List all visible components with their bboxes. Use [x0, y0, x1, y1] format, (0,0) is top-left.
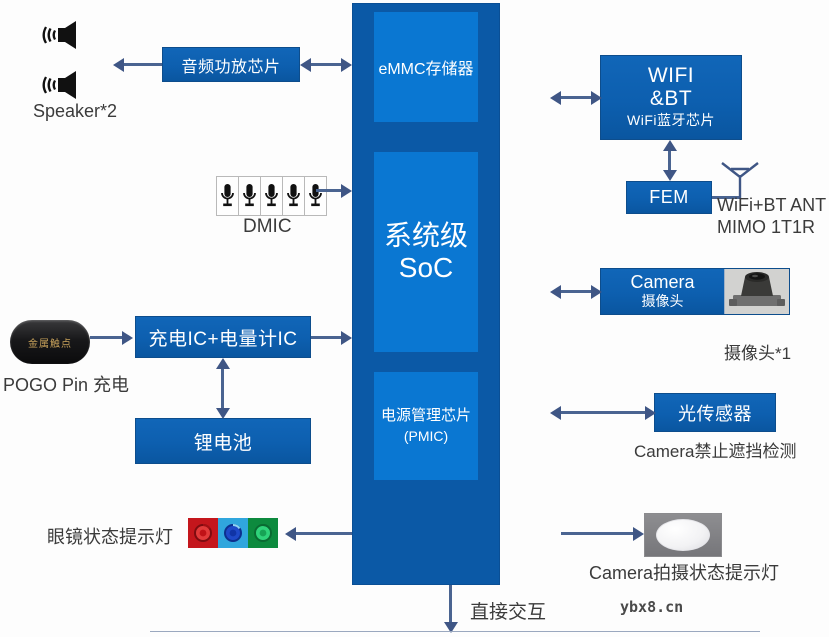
- pogo-pin-caption: POGO Pin 充电: [3, 371, 129, 397]
- camera-caption: 摄像头*1: [724, 339, 791, 364]
- microphone-icon: [260, 176, 283, 216]
- soc-block-core[interactable]: 系统级 SoC: [374, 152, 478, 352]
- arrow-amp-to-soc-head-left: [300, 58, 311, 72]
- led-green-icon: [248, 518, 278, 548]
- arrow-wifi-fem-line: [668, 150, 671, 172]
- microphone-icon: [238, 176, 261, 216]
- arrow-soc-wifi-head-right: [591, 91, 602, 105]
- dmic-icon-group: [216, 176, 326, 216]
- soc-pmic-label-line1: 电源管理芯片: [381, 406, 471, 426]
- arrow-soc-to-led-line: [296, 532, 352, 535]
- status-lamp-icon: [644, 513, 722, 557]
- camera-lamp-caption: Camera拍摄状态提示灯: [589, 559, 779, 585]
- soc-block-emmc[interactable]: eMMC存储器: [374, 12, 478, 122]
- status-lamp-disc: [656, 519, 710, 551]
- dmic-caption: DMIC: [243, 216, 292, 238]
- camera-label-line1: Camera: [630, 273, 694, 292]
- watermark-text: ybx8.cn: [620, 598, 683, 616]
- speaker-icon-top: [42, 20, 88, 50]
- fem-box[interactable]: FEM: [626, 181, 712, 214]
- arrow-wifi-fem-head-up: [663, 140, 677, 151]
- led-cyan-icon: [218, 518, 248, 548]
- arrow-dmic-to-soc-line: [316, 189, 341, 192]
- arrow-soc-lightsensor-line: [561, 411, 645, 414]
- camera-module-photo: [724, 269, 789, 314]
- arrow-amp-to-speaker-head: [113, 58, 124, 72]
- arrow-soc-lamp-head: [633, 527, 644, 541]
- microphone-icon: [304, 176, 327, 216]
- arrow-amp-to-speaker-line: [124, 63, 162, 66]
- antenna-caption-line2: MIMO 1T1R: [717, 217, 815, 238]
- fem-label: FEM: [649, 187, 689, 208]
- led-red-icon: [188, 518, 218, 548]
- antenna-caption-line1: WiFi+BT ANT: [717, 195, 826, 216]
- camera-label-line2: 摄像头: [642, 292, 684, 310]
- arrow-charge-battery-line: [221, 368, 224, 410]
- light-sensor-caption: Camera禁止遮挡检测: [634, 437, 796, 462]
- audio-amplifier-label: 音频功放芯片: [181, 53, 280, 77]
- soc-core-label-line1: 系统级: [384, 220, 468, 252]
- audio-amplifier-box[interactable]: 音频功放芯片: [162, 47, 300, 82]
- battery-label: 锂电池: [194, 428, 253, 455]
- soc-core-label-line2: SoC: [399, 252, 453, 284]
- microphone-icon: [216, 176, 239, 216]
- charge-ic-box[interactable]: 充电IC+电量计IC: [135, 316, 311, 358]
- arrow-dmic-to-soc-head: [341, 184, 352, 198]
- diagram-canvas: eMMC存储器 系统级 SoC 电源管理芯片 (PMIC): [0, 0, 829, 637]
- wifi-bt-label-line3: WiFi蓝牙芯片: [627, 110, 715, 131]
- speaker-icon-bottom: [42, 70, 88, 100]
- soc-pmic-label-line2: (PMIC): [404, 427, 448, 446]
- light-sensor-label: 光传感器: [678, 400, 752, 426]
- arrow-amp-to-soc-head-right: [341, 58, 352, 72]
- arrow-soc-camera-head-left: [550, 285, 561, 299]
- camera-box[interactable]: Camera 摄像头: [600, 268, 790, 315]
- battery-box[interactable]: 锂电池: [135, 418, 311, 464]
- arrow-soc-camera-head-right: [591, 285, 602, 299]
- wifi-bt-box[interactable]: WIFI &BT WiFi蓝牙芯片: [600, 55, 742, 140]
- camera-label-area: Camera 摄像头: [601, 269, 724, 314]
- pogo-pin-marking: 金属触点: [28, 335, 72, 350]
- arrow-charge-battery-head-up: [216, 358, 230, 369]
- microphone-icon: [282, 176, 305, 216]
- arrow-pogo-to-charge-line: [90, 336, 122, 339]
- speaker-caption: Speaker*2: [33, 101, 117, 122]
- charge-ic-label: 充电IC+电量计IC: [148, 324, 297, 351]
- wifi-bt-label-line2: &BT: [650, 87, 692, 110]
- arrow-soc-lightsensor-head-left: [550, 406, 561, 420]
- light-sensor-box[interactable]: 光传感器: [654, 393, 776, 432]
- arrow-charge-to-soc-head: [341, 331, 352, 345]
- bottom-cutoff-box-edge: [150, 631, 760, 632]
- arrow-charge-to-soc-line: [311, 336, 341, 339]
- glasses-status-led-caption: 眼镜状态提示灯: [47, 523, 173, 549]
- arrow-soc-wifi-line: [561, 96, 591, 99]
- arrow-charge-battery-head-down: [216, 408, 230, 419]
- pogo-pin-icon: 金属触点: [10, 320, 90, 364]
- arrow-pogo-to-charge-head: [122, 331, 133, 345]
- glasses-status-led-group[interactable]: [188, 518, 278, 548]
- arrow-soc-bottom-line: [449, 585, 452, 624]
- arrow-soc-camera-line: [561, 290, 591, 293]
- wifi-bt-label-line1: WIFI: [648, 64, 694, 87]
- arrow-wifi-fem-head-down: [663, 170, 677, 181]
- arrow-soc-lightsensor-head-right: [645, 406, 656, 420]
- soc-block-pmic[interactable]: 电源管理芯片 (PMIC): [374, 372, 478, 480]
- soc-emmc-label: eMMC存储器: [378, 55, 473, 79]
- arrow-soc-to-led-head: [285, 527, 296, 541]
- arrow-amp-to-soc-line: [311, 63, 341, 66]
- direct-interaction-label: 直接交互: [470, 597, 546, 624]
- arrow-soc-lamp-line: [561, 532, 633, 535]
- arrow-soc-wifi-head-left: [550, 91, 561, 105]
